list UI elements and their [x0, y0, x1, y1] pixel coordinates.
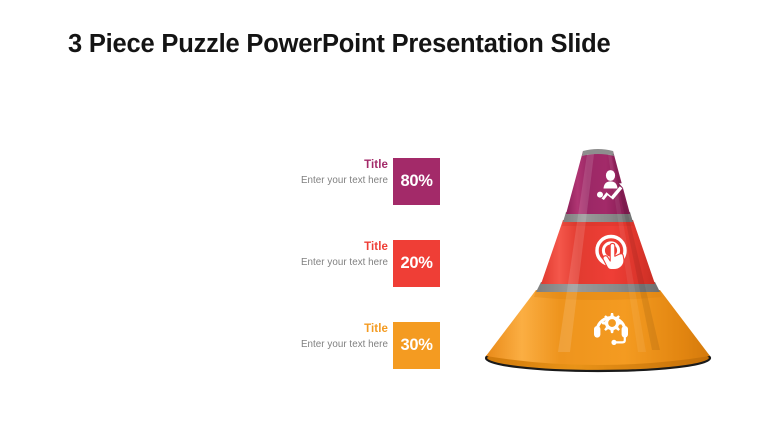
row-text-block: Title Enter your text here: [238, 322, 388, 352]
row-description: Enter your text here: [238, 255, 388, 270]
cone-graphic: [484, 140, 712, 376]
row-title: Title: [238, 322, 388, 337]
row-text-block: Title Enter your text here: [238, 158, 388, 188]
row-title: Title: [238, 240, 388, 255]
row-description: Enter your text here: [238, 173, 388, 188]
list-item[interactable]: Title Enter your text here 80%: [240, 158, 440, 208]
row-description: Enter your text here: [238, 337, 388, 352]
percentage-badge[interactable]: 80%: [393, 158, 440, 205]
page-title: 3 Piece Puzzle PowerPoint Presentation S…: [68, 30, 610, 59]
percentage-badge[interactable]: 20%: [393, 240, 440, 287]
cone-diagram: $: [484, 140, 712, 376]
list-item[interactable]: Title Enter your text here 30%: [240, 322, 440, 372]
presentation-slide: 3 Piece Puzzle PowerPoint Presentation S…: [0, 0, 768, 432]
list-item[interactable]: Title Enter your text here 20%: [240, 240, 440, 290]
row-text-block: Title Enter your text here: [238, 240, 388, 270]
cone-layer-bottom[interactable]: [486, 290, 710, 365]
row-title: Title: [238, 158, 388, 173]
percentage-badge[interactable]: 30%: [393, 322, 440, 369]
